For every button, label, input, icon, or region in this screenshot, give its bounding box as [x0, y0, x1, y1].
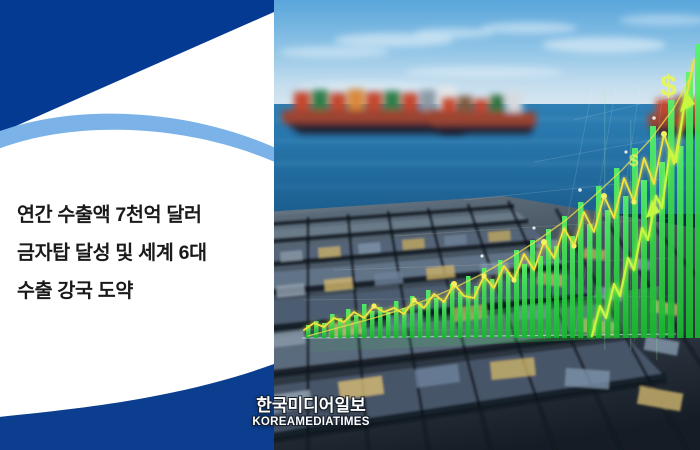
headline-line-3: 수출 강국 도약	[17, 272, 267, 310]
logo-english-name: KOREAMEDIATIMES	[231, 415, 391, 429]
news-card: $ $ 연간 수출액 7천억 달러	[0, 0, 700, 450]
headline-line-2: 금자탑 달성 및 세계 6대	[17, 234, 267, 272]
headline-line-1: 연간 수출액 7천억 달러	[17, 196, 267, 234]
headline: 연간 수출액 7천억 달러 금자탑 달성 및 세계 6대 수출 강국 도약	[17, 196, 267, 310]
logo-korean-name: 한국미디어일보	[231, 396, 391, 415]
publisher-logo: 한국미디어일보 KOREAMEDIATIMES	[231, 396, 391, 429]
dollar-sign-icon: $	[660, 70, 677, 103]
top-diagonal-shape	[0, 0, 274, 133]
photo-scene: $ $	[274, 0, 700, 450]
hero-photo: $ $	[274, 0, 700, 450]
left-panel: 연간 수출액 7천억 달러 금자탑 달성 및 세계 6대 수출 강국 도약	[0, 0, 274, 450]
